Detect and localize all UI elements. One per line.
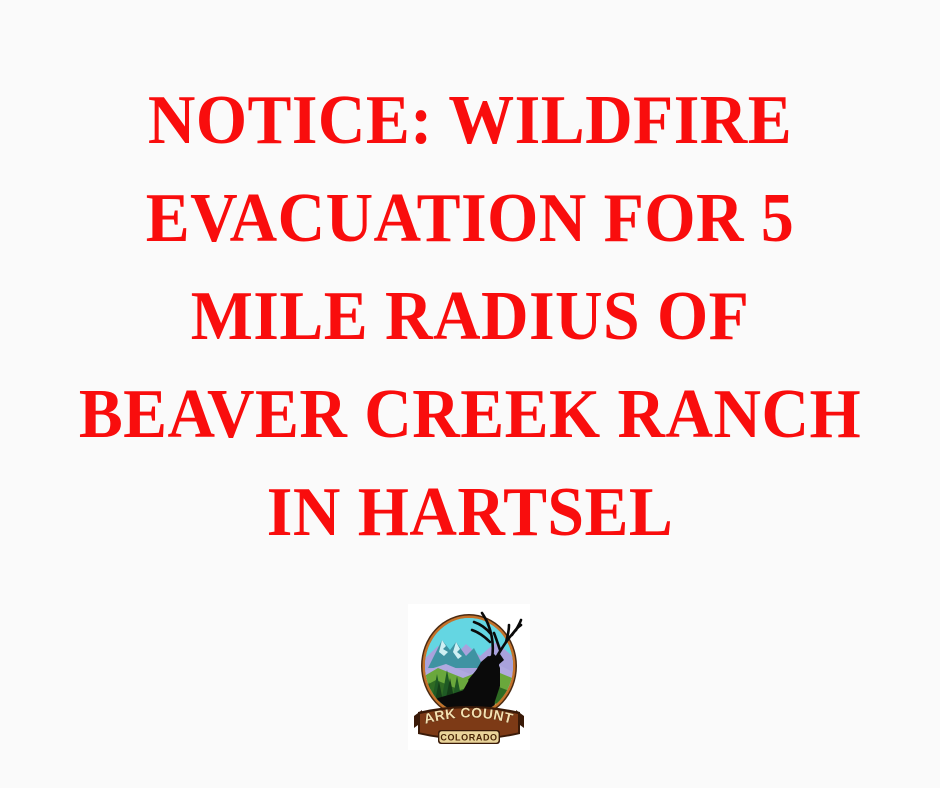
- headline-line-3: MILE RADIUS OF: [28, 268, 912, 366]
- headline-line-2: EVACUATION FOR 5: [28, 170, 912, 268]
- park-county-seal-icon: PARK COUNTY COLORADO: [408, 604, 530, 750]
- wildfire-evacuation-notice-poster: NOTICE: WILDFIRE EVACUATION FOR 5 MILE R…: [0, 0, 940, 788]
- park-county-colorado-logo: PARK COUNTY COLORADO: [408, 604, 530, 750]
- headline-line-4: BEAVER CREEK RANCH: [28, 366, 912, 464]
- headline-line-1: NOTICE: WILDFIRE: [28, 72, 912, 170]
- page-title: NOTICE: WILDFIRE EVACUATION FOR 5 MILE R…: [0, 72, 940, 562]
- logo-sub-banner-text: COLORADO: [440, 732, 497, 742]
- headline-line-5: IN HARTSEL: [28, 464, 912, 562]
